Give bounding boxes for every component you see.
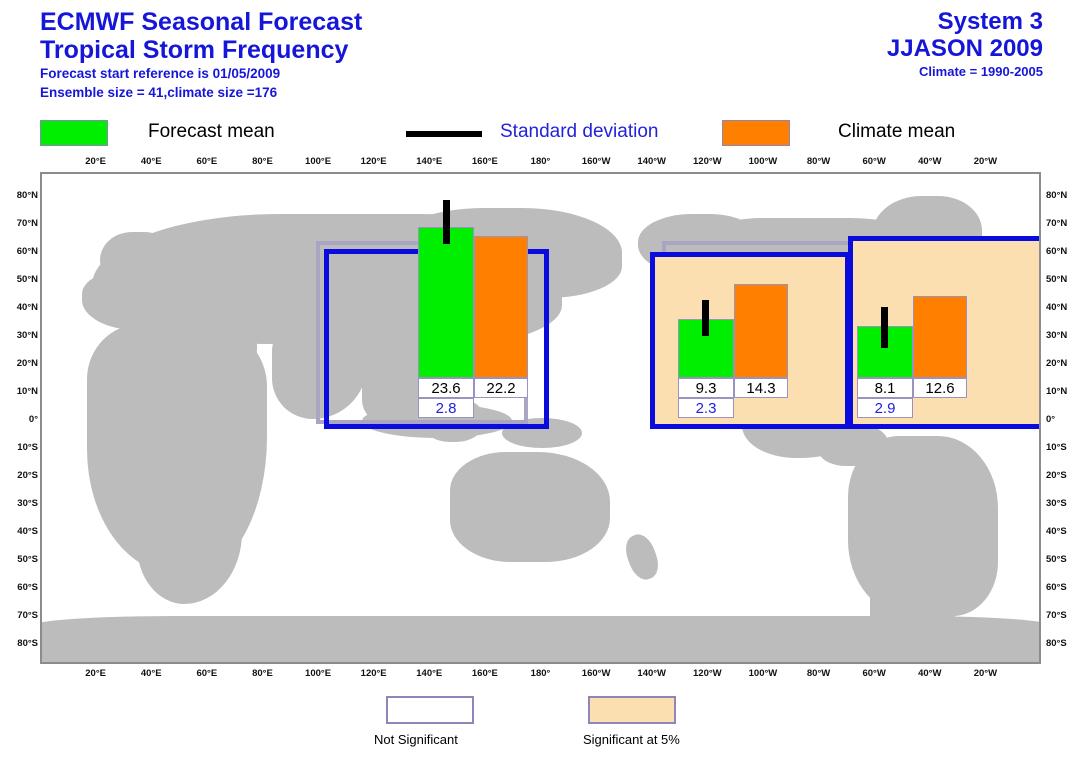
latitude-tick-label: 80°N — [17, 190, 38, 201]
latitude-tick-label: 80°N — [1046, 190, 1067, 201]
legend-label-standard-deviation: Standard deviation — [500, 121, 658, 143]
latitude-tick-label: 80°S — [1046, 638, 1067, 649]
longitude-tick-label: 80°E — [252, 668, 273, 679]
forecast-start-reference: Forecast start reference is 01/05/2009 — [40, 64, 362, 83]
longitude-tick-label: 100°W — [749, 668, 778, 679]
latitude-tick-label: 60°S — [1046, 582, 1067, 593]
latitude-tick-label: 60°N — [17, 246, 38, 257]
world-map-panel: 23.6 2.8 22.2 9.3 2.3 14.3 8.1 2.9 12.6 — [40, 172, 1041, 664]
legend-swatch-climate-mean — [722, 120, 790, 146]
bar-climate-west-pacific[interactable] — [474, 236, 528, 378]
latitude-tick-label: 30°N — [1046, 330, 1067, 341]
system-label: System 3 — [887, 8, 1043, 35]
longitude-tick-label: 60°E — [196, 668, 217, 679]
longitude-tick-label: 120°W — [693, 668, 722, 679]
latitude-tick-label: 40°N — [17, 302, 38, 313]
land-australia — [450, 452, 610, 562]
longitude-tick-label: 160°E — [472, 156, 498, 167]
latitude-tick-label: 40°N — [1046, 302, 1067, 313]
land-newzealand — [621, 531, 663, 584]
stddev-line-west-pacific — [443, 200, 450, 244]
longitude-tick-label: 80°W — [807, 668, 830, 679]
bar-climate-north-atlantic[interactable] — [913, 296, 967, 378]
climate-period-label: Climate = 1990-2005 — [887, 62, 1043, 81]
latitude-tick-label: 50°S — [17, 554, 38, 565]
longitude-tick-label: 140°E — [416, 668, 442, 679]
latitude-tick-label: 30°N — [17, 330, 38, 341]
bar-climate-east-pacific[interactable] — [734, 284, 788, 378]
longitude-tick-label: 20°E — [85, 156, 106, 167]
land-antarctica — [40, 616, 1041, 664]
longitude-tick-label: 100°E — [305, 156, 331, 167]
value-stddev-west-pacific: 2.8 — [418, 398, 474, 418]
longitude-tick-label: 180° — [531, 156, 551, 167]
longitude-tick-label: 20°W — [974, 668, 997, 679]
header-left: ECMWF Seasonal Forecast Tropical Storm F… — [40, 8, 362, 102]
latitude-tick-label: 60°N — [1046, 246, 1067, 257]
latitude-tick-label: 10°S — [1046, 442, 1067, 453]
longitude-tick-label: 60°W — [862, 156, 885, 167]
value-forecast-north-atlantic: 8.1 — [857, 378, 913, 398]
chart-legend: Forecast mean Standard deviation Climate… — [0, 120, 1085, 150]
latitude-tick-label: 20°S — [1046, 470, 1067, 481]
latitude-tick-label: 80°S — [17, 638, 38, 649]
latitude-tick-label: 30°S — [17, 498, 38, 509]
longitude-tick-label: 180° — [531, 668, 551, 679]
latitude-tick-label: 60°S — [17, 582, 38, 593]
longitude-tick-label: 60°E — [196, 156, 217, 167]
longitude-tick-label: 40°W — [918, 156, 941, 167]
latitude-tick-label: 50°N — [1046, 274, 1067, 285]
value-climate-west-pacific: 22.2 — [474, 378, 528, 398]
longitude-tick-label: 100°W — [749, 156, 778, 167]
longitude-tick-label: 100°E — [305, 668, 331, 679]
latitude-tick-label: 70°S — [17, 610, 38, 621]
longitude-tick-label: 80°W — [807, 156, 830, 167]
longitude-tick-label: 80°E — [252, 156, 273, 167]
latitude-tick-label: 0° — [1046, 414, 1055, 425]
legend-label-not-significant: Not Significant — [374, 732, 458, 747]
value-forecast-east-pacific: 9.3 — [678, 378, 734, 398]
forecast-chart-page: ECMWF Seasonal Forecast Tropical Storm F… — [0, 0, 1085, 760]
longitude-tick-label: 140°W — [637, 668, 666, 679]
latitude-tick-label: 20°N — [17, 358, 38, 369]
value-climate-east-pacific: 14.3 — [734, 378, 788, 398]
longitude-tick-label: 40°W — [918, 668, 941, 679]
legend-swatch-standard-deviation — [406, 131, 482, 137]
latitude-tick-label: 50°S — [1046, 554, 1067, 565]
value-climate-north-atlantic: 12.6 — [913, 378, 967, 398]
legend-label-climate-mean: Climate mean — [838, 121, 955, 143]
latitude-tick-label: 10°S — [17, 442, 38, 453]
stddev-line-east-pacific — [702, 300, 709, 336]
ensemble-size-info: Ensemble size = 41,climate size =176 — [40, 83, 362, 102]
latitude-tick-label: 50°N — [17, 274, 38, 285]
season-label: JJASON 2009 — [887, 35, 1043, 62]
longitude-tick-label: 60°W — [862, 668, 885, 679]
latitude-tick-label: 40°S — [1046, 526, 1067, 537]
longitude-axis-bottom: 20°E40°E60°E80°E100°E120°E140°E160°E180°… — [40, 668, 1041, 682]
longitude-tick-label: 20°E — [85, 668, 106, 679]
land-africa-south — [137, 474, 242, 604]
latitude-tick-label: 70°N — [1046, 218, 1067, 229]
latitude-tick-label: 70°S — [1046, 610, 1067, 621]
latitude-tick-label: 10°N — [17, 386, 38, 397]
longitude-tick-label: 140°E — [416, 156, 442, 167]
latitude-tick-label: 0° — [29, 414, 38, 425]
longitude-tick-label: 160°W — [582, 156, 611, 167]
page-title-line1: ECMWF Seasonal Forecast — [40, 8, 362, 36]
legend-label-forecast-mean: Forecast mean — [148, 121, 275, 143]
latitude-tick-label: 20°N — [1046, 358, 1067, 369]
legend-swatch-forecast-mean — [40, 120, 108, 146]
stddev-line-north-atlantic — [881, 307, 888, 348]
legend-label-significant: Significant at 5% — [583, 732, 680, 747]
longitude-tick-label: 160°E — [472, 668, 498, 679]
latitude-tick-label: 10°N — [1046, 386, 1067, 397]
latitude-tick-label: 40°S — [17, 526, 38, 537]
value-forecast-west-pacific: 23.6 — [418, 378, 474, 398]
latitude-tick-label: 70°N — [17, 218, 38, 229]
longitude-tick-label: 40°E — [141, 668, 162, 679]
longitude-tick-label: 20°W — [974, 156, 997, 167]
longitude-tick-label: 140°W — [637, 156, 666, 167]
bar-forecast-west-pacific[interactable] — [418, 227, 474, 378]
longitude-tick-label: 40°E — [141, 156, 162, 167]
value-stddev-east-pacific: 2.3 — [678, 398, 734, 418]
longitude-tick-label: 160°W — [582, 668, 611, 679]
longitude-tick-label: 120°W — [693, 156, 722, 167]
value-stddev-north-atlantic: 2.9 — [857, 398, 913, 418]
significance-legend: Not Significant Significant at 5% — [0, 696, 1085, 756]
page-title-line2: Tropical Storm Frequency — [40, 36, 362, 64]
longitude-tick-label: 120°E — [361, 668, 387, 679]
latitude-tick-label: 30°S — [1046, 498, 1067, 509]
legend-swatch-significant — [588, 696, 676, 724]
header-right: System 3 JJASON 2009 Climate = 1990-2005 — [887, 8, 1043, 81]
longitude-tick-label: 120°E — [361, 156, 387, 167]
legend-swatch-not-significant — [386, 696, 474, 724]
latitude-tick-label: 20°S — [17, 470, 38, 481]
longitude-axis-top: 20°E40°E60°E80°E100°E120°E140°E160°E180°… — [40, 156, 1041, 170]
